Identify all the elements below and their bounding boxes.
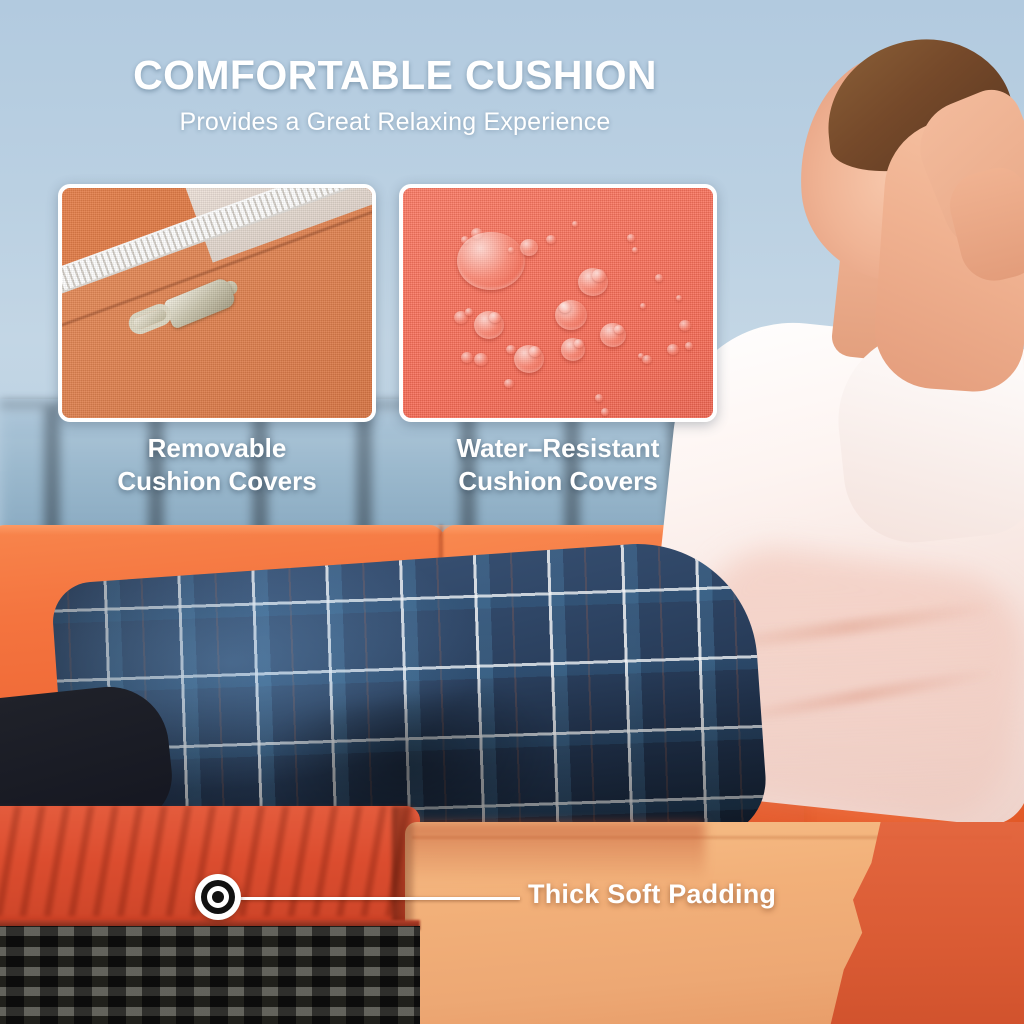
water-droplet bbox=[685, 342, 693, 350]
water-droplet bbox=[474, 353, 488, 366]
caption-line-1: Water–Resistant bbox=[399, 432, 717, 465]
water-droplet bbox=[655, 274, 663, 282]
water-droplet bbox=[676, 295, 682, 301]
caption-line-2: Cushion Covers bbox=[58, 465, 376, 498]
fabric-weave-texture bbox=[62, 188, 372, 418]
water-droplet bbox=[457, 232, 525, 290]
page-title: COMFORTABLE CUSHION bbox=[0, 52, 790, 99]
caption-removable-covers: Removable Cushion Covers bbox=[58, 432, 376, 499]
product-feature-image: Removable Cushion Covers Water–Resistant… bbox=[0, 0, 1024, 1024]
water-droplet bbox=[601, 408, 609, 416]
caption-water-resistant: Water–Resistant Cushion Covers bbox=[399, 432, 717, 499]
bullseye-center-dot bbox=[212, 891, 224, 903]
bullseye-inner-ring bbox=[207, 886, 229, 908]
water-droplet bbox=[627, 234, 635, 242]
water-droplet bbox=[465, 308, 473, 316]
caption-line-2: Cushion Covers bbox=[399, 465, 717, 498]
feature-panel-removable-covers[interactable] bbox=[58, 184, 376, 422]
water-droplet bbox=[592, 269, 606, 282]
wicker-base bbox=[0, 926, 420, 1024]
water-droplet bbox=[572, 221, 578, 227]
water-droplet bbox=[638, 353, 644, 359]
wicker-weave-texture bbox=[0, 926, 420, 1024]
water-droplet bbox=[632, 247, 638, 253]
seat-cushion-gap bbox=[392, 806, 414, 936]
page-subtitle: Provides a Great Relaxing Experience bbox=[0, 108, 790, 137]
water-droplet bbox=[640, 303, 646, 309]
feature-panel-water-resistant[interactable] bbox=[399, 184, 717, 422]
fabric-weave-texture bbox=[403, 188, 713, 418]
water-droplet bbox=[595, 394, 603, 402]
callout-connector-line bbox=[222, 897, 520, 900]
bullseye-outer-ring bbox=[201, 880, 235, 914]
seat-soft-shadow bbox=[405, 822, 705, 882]
caption-line-1: Removable bbox=[58, 432, 376, 465]
callout-label: Thick Soft Padding bbox=[528, 879, 776, 910]
bullseye-target-icon bbox=[195, 874, 241, 920]
